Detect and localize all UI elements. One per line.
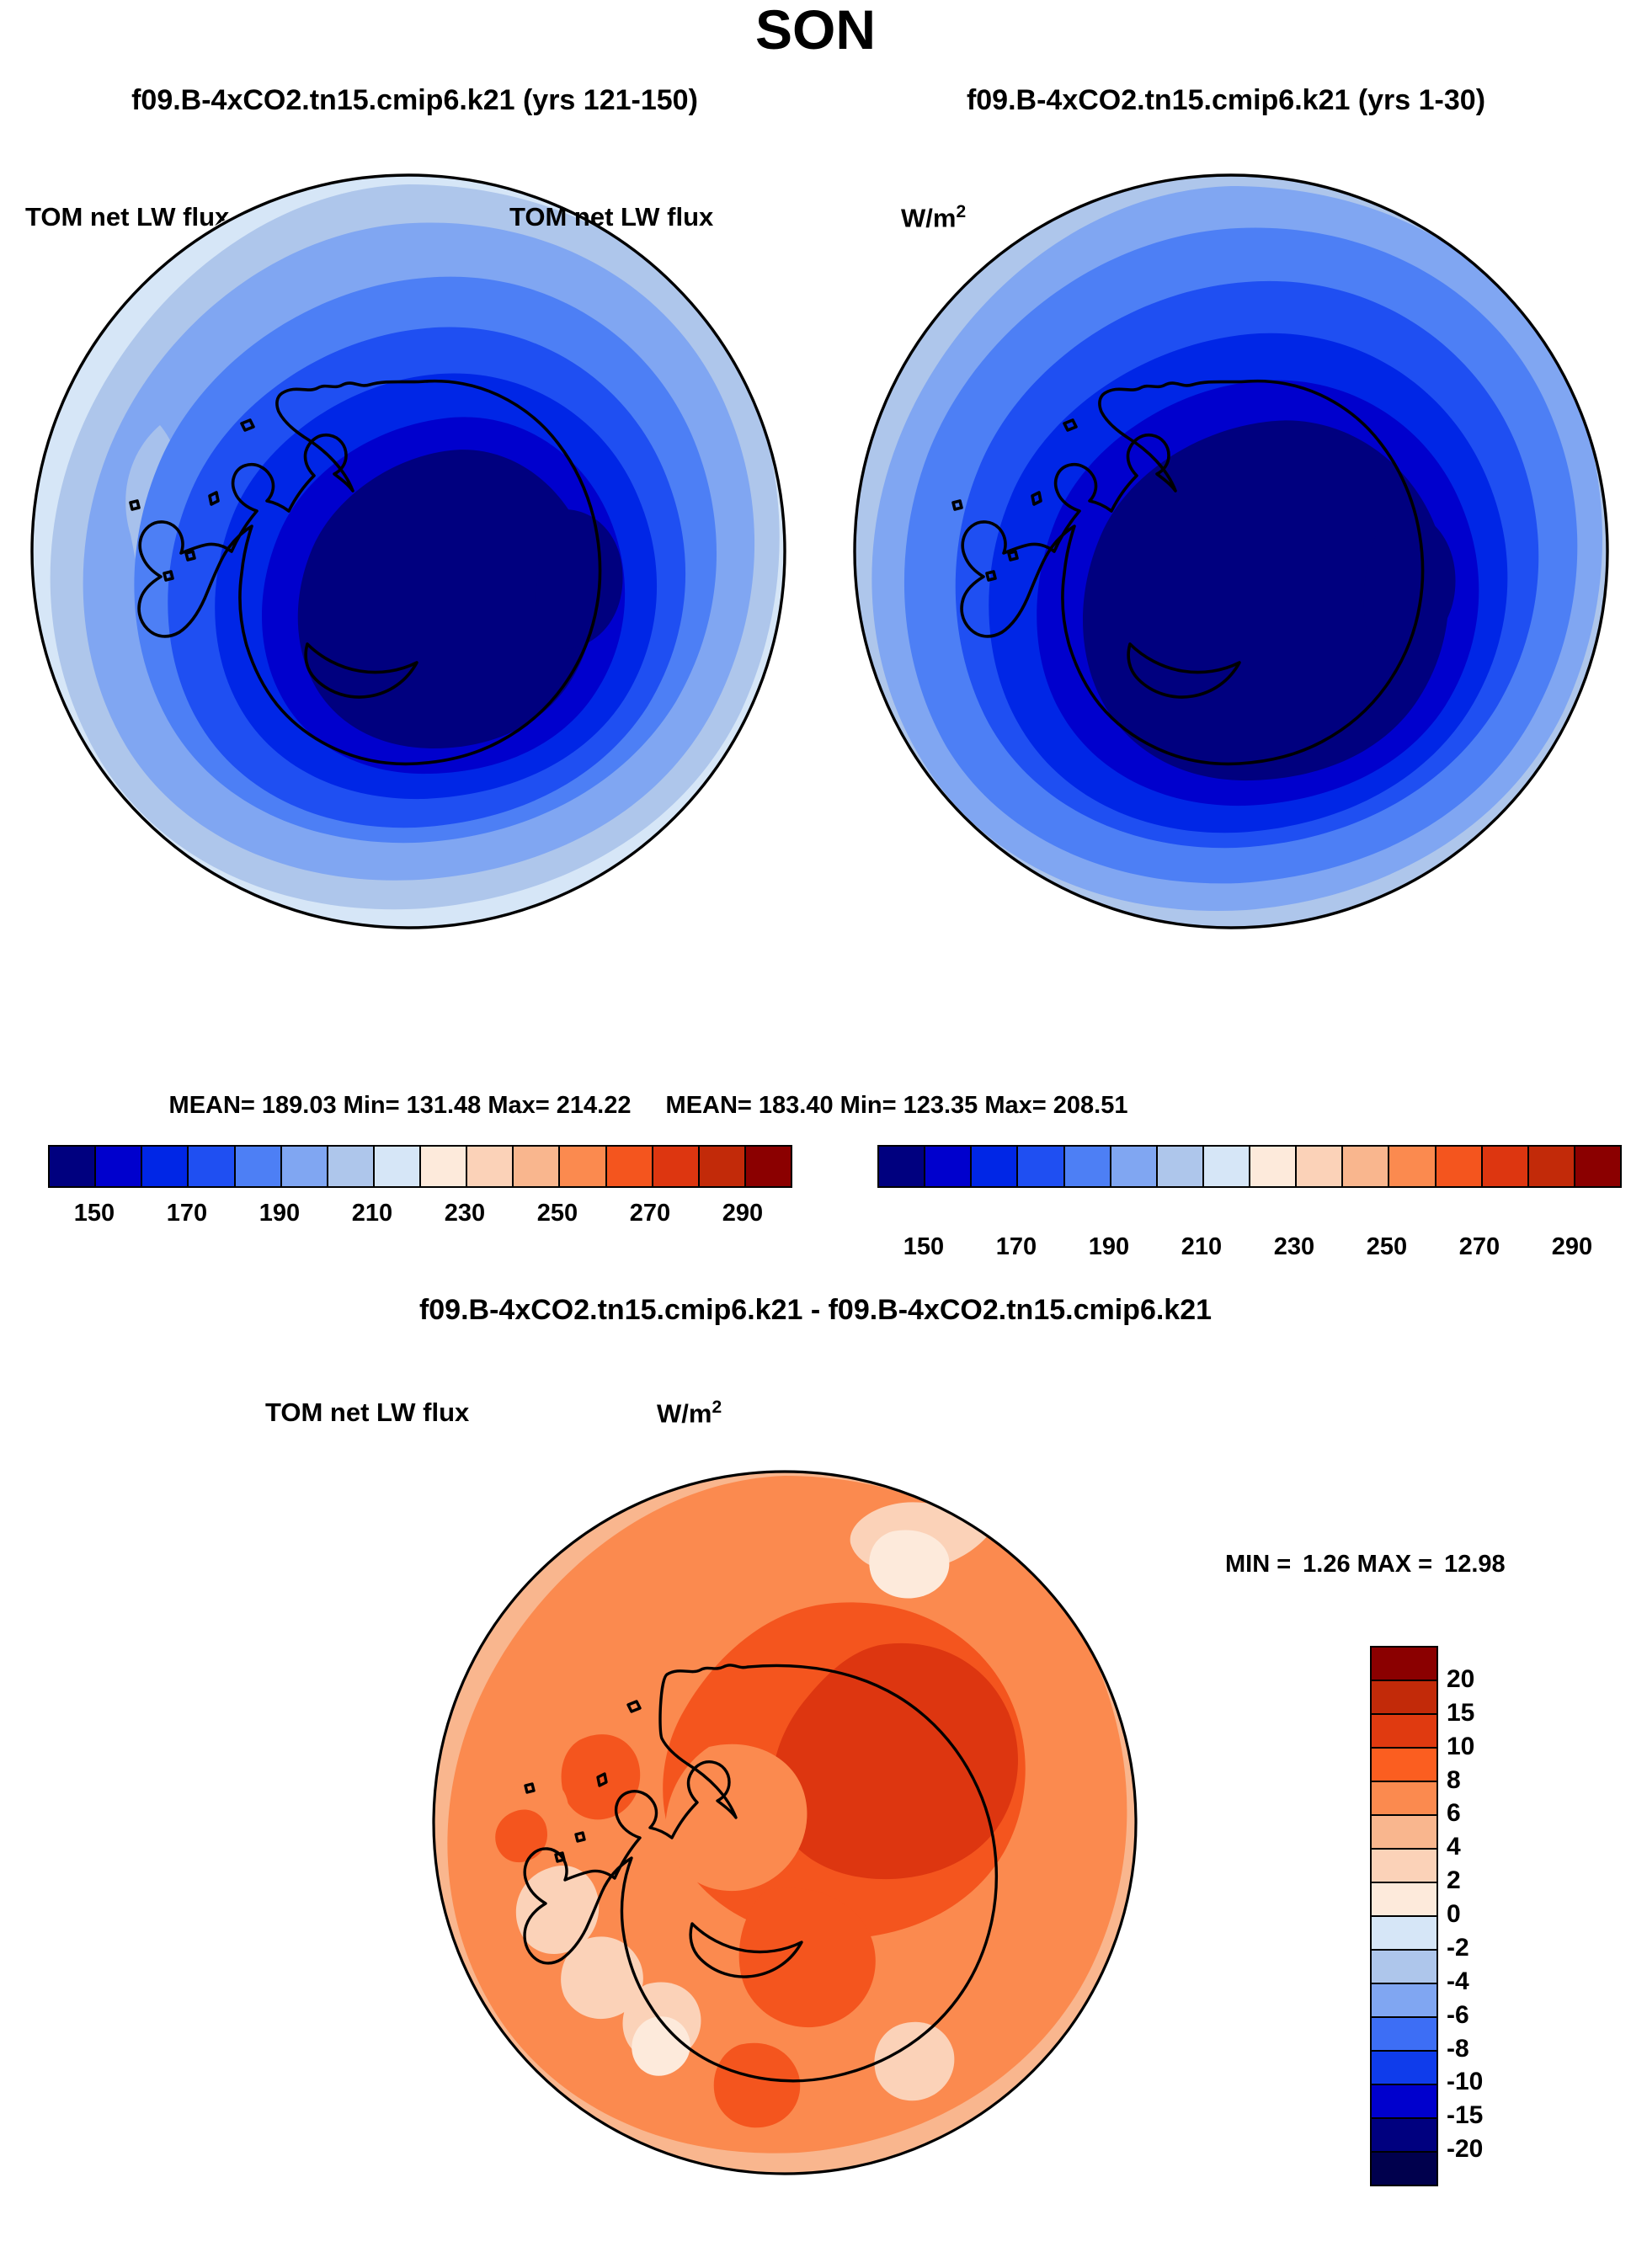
unit-label-right: W/m2	[901, 202, 966, 233]
stats-right: MEAN= 183.40 Min= 123.35 Max= 208.51	[505, 1092, 1288, 1120]
colorbar-cell	[879, 1147, 925, 1186]
colorbar-cell	[1372, 1816, 1436, 1850]
colorbar-left	[48, 1145, 792, 1188]
colorbar-cell	[282, 1147, 328, 1186]
colorbar-cell	[607, 1147, 653, 1186]
colorbar-cell	[1372, 1917, 1436, 1951]
colorbar-cell	[1343, 1147, 1389, 1186]
colorbar-right-labels: 150170190210230250270290	[877, 1233, 1618, 1267]
colorbar-tick-label: 270	[630, 1200, 670, 1227]
map-right-svg	[852, 173, 1610, 930]
colorbar-cell	[1372, 1883, 1436, 1917]
colorbar-cell	[1372, 1984, 1436, 2018]
colorbar-tick-label: 230	[445, 1200, 485, 1227]
contour-bands-right	[855, 175, 1607, 928]
contour-bands-difference	[434, 1472, 1136, 2174]
colorbar-cell	[1372, 1850, 1436, 1883]
colorbar-cell	[1389, 1147, 1436, 1186]
unit-text: W/m	[657, 1398, 712, 1428]
unit-text: W/m	[901, 203, 956, 232]
map-left-svg	[29, 173, 787, 930]
contour-bands-left	[32, 175, 785, 928]
field-label-left: TOM net LW flux	[25, 202, 229, 232]
colorbar-tick-label: 2	[1447, 1866, 1461, 1895]
colorbar-tick-label: 290	[1552, 1233, 1592, 1261]
colorbar-cell	[1297, 1147, 1343, 1186]
colorbar-cell	[1372, 2052, 1436, 2085]
colorbar-difference-labels: 20151086420-2-4-6-8-10-15-20	[1447, 1646, 1548, 2186]
colorbar-tick-label: 150	[903, 1233, 944, 1261]
colorbar-tick-label: 10	[1447, 1733, 1474, 1761]
colorbar-cell	[1372, 1648, 1436, 1681]
colorbar-cell	[653, 1147, 700, 1186]
colorbar-left-labels: 150170190210230250270290	[48, 1200, 789, 1233]
colorbar-tick-label: 210	[1181, 1233, 1222, 1261]
case-title-right: f09.B-4xCO2.tn15.cmip6.k21 (yrs 1-30)	[821, 84, 1631, 117]
colorbar-tick-label: 150	[74, 1200, 115, 1227]
unit-exponent: 2	[956, 202, 966, 221]
colorbar-cell	[746, 1147, 791, 1186]
colorbar-cell	[375, 1147, 421, 1186]
colorbar-cell	[50, 1147, 96, 1186]
colorbar-tick-label: 190	[259, 1200, 300, 1227]
colorbar-cell	[1204, 1147, 1250, 1186]
min-label: MIN =	[1225, 1551, 1291, 1578]
colorbar-tick-label: 20	[1447, 1665, 1474, 1694]
colorbar-cell	[328, 1147, 375, 1186]
unit-label-difference: W/m2	[657, 1398, 722, 1429]
colorbar-difference	[1370, 1646, 1438, 2186]
colorbar-cell	[1250, 1147, 1297, 1186]
colorbar-tick-label: 170	[996, 1233, 1037, 1261]
colorbar-cell	[1483, 1147, 1529, 1186]
colorbar-cell	[972, 1147, 1018, 1186]
colorbar-tick-label: 250	[537, 1200, 578, 1227]
colorbar-cell	[700, 1147, 746, 1186]
unit-exponent: 2	[712, 1398, 722, 1417]
colorbar-right	[877, 1145, 1622, 1188]
colorbar-cell	[1372, 1782, 1436, 1816]
colorbar-cell	[1111, 1147, 1158, 1186]
colorbar-tick-label: 190	[1089, 1233, 1129, 1261]
case-title-left: f09.B-4xCO2.tn15.cmip6.k21 (yrs 121-150)	[8, 84, 821, 117]
colorbar-cell	[560, 1147, 606, 1186]
colorbar-cell	[1065, 1147, 1111, 1186]
colorbar-cell	[925, 1147, 972, 1186]
colorbar-tick-label: 230	[1274, 1233, 1314, 1261]
colorbar-tick-label: 4	[1447, 1833, 1461, 1861]
field-label-right: TOM net LW flux	[509, 202, 713, 232]
field-label-difference: TOM net LW flux	[265, 1398, 469, 1428]
colorbar-tick-label: -4	[1447, 1967, 1469, 1996]
colorbar-cell	[1372, 2085, 1436, 2119]
colorbar-tick-label: -20	[1447, 2135, 1483, 2164]
colorbar-tick-label: 290	[722, 1200, 763, 1227]
colorbar-cell	[1372, 2119, 1436, 2153]
polar-map-left	[29, 173, 787, 930]
colorbar-cell	[1529, 1147, 1575, 1186]
polar-map-difference	[431, 1469, 1138, 2176]
colorbar-tick-label: 8	[1447, 1766, 1461, 1795]
colorbar-tick-label: 15	[1447, 1699, 1474, 1728]
colorbar-cell	[96, 1147, 142, 1186]
colorbar-tick-label: 170	[167, 1200, 207, 1227]
colorbar-cell	[1575, 1147, 1620, 1186]
colorbar-cell	[1158, 1147, 1204, 1186]
colorbar-cell	[467, 1147, 514, 1186]
colorbar-cell	[1372, 2018, 1436, 2052]
colorbar-tick-label: -10	[1447, 2068, 1483, 2096]
colorbar-tick-label: -2	[1447, 1934, 1469, 1962]
colorbar-tick-label: 270	[1459, 1233, 1500, 1261]
difference-case-title: f09.B-4xCO2.tn15.cmip6.k21 - f09.B-4xCO2…	[0, 1294, 1631, 1327]
colorbar-tick-label: 210	[352, 1200, 392, 1227]
colorbar-cell	[1018, 1147, 1064, 1186]
colorbar-cell	[142, 1147, 189, 1186]
colorbar-cell	[1436, 1147, 1483, 1186]
map-diff-svg	[431, 1469, 1138, 2176]
colorbar-cell	[189, 1147, 235, 1186]
colorbar-cell	[1372, 1681, 1436, 1715]
colorbar-cell	[1372, 1951, 1436, 1984]
colorbar-cell	[236, 1147, 282, 1186]
difference-minmax: MIN =1.26 MAX =12.98	[1225, 1551, 1506, 1579]
colorbar-tick-label: 250	[1367, 1233, 1407, 1261]
colorbar-tick-label: -8	[1447, 2035, 1469, 2063]
colorbar-tick-label: -15	[1447, 2101, 1483, 2130]
max-value: 12.98	[1444, 1551, 1506, 1578]
colorbar-tick-label: 6	[1447, 1799, 1461, 1828]
colorbar-tick-label: -6	[1447, 2001, 1469, 2030]
colorbar-tick-label: 0	[1447, 1900, 1461, 1929]
colorbar-cell	[421, 1147, 467, 1186]
colorbar-cell	[1372, 2153, 1436, 2185]
colorbar-cell	[514, 1147, 560, 1186]
page-title: SON	[0, 2, 1631, 57]
colorbar-cell	[1372, 1749, 1436, 1782]
min-value: 1.26	[1303, 1551, 1350, 1578]
colorbar-cell	[1372, 1715, 1436, 1749]
polar-map-right	[852, 173, 1610, 930]
max-label: MAX =	[1357, 1551, 1432, 1578]
